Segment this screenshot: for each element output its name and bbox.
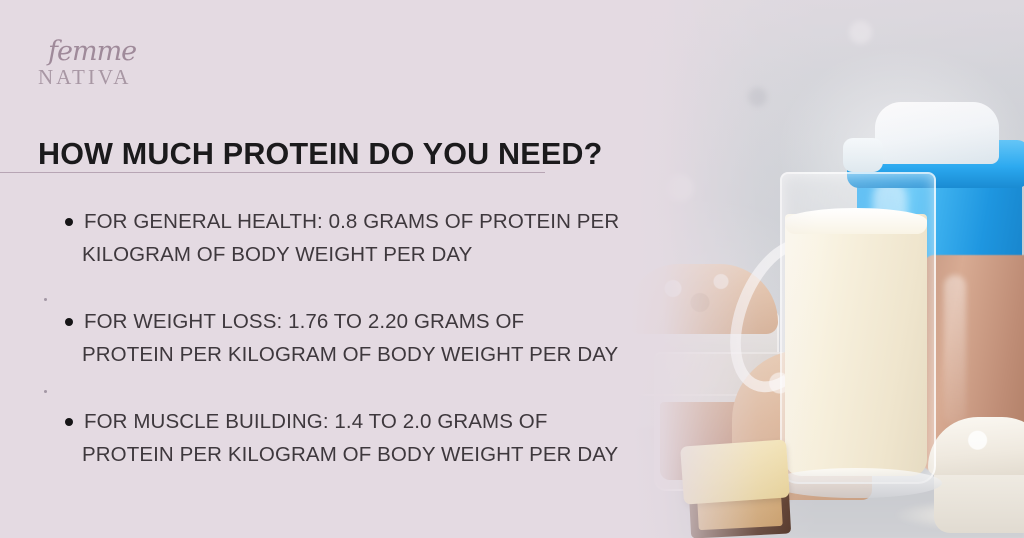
protein-recommendations-list: FOR GENERAL HEALTH: 0.8 GRAMS OF PROTEIN…: [44, 205, 704, 471]
list-item-line-2: PROTEIN PER KILOGRAM OF BODY WEIGHT PER …: [82, 438, 704, 471]
list-item: FOR MUSCLE BUILDING: 1.4 TO 2.0 GRAMS OF…: [44, 405, 704, 471]
brand-logo: femme NATIVA: [38, 38, 178, 88]
list-item: FOR WEIGHT LOSS: 1.76 TO 2.20 GRAMS OF P…: [44, 305, 704, 371]
white-scoop-powder: [928, 417, 1024, 475]
chocolate-shake-highlight: [944, 275, 966, 425]
shaker-white-cap: [875, 102, 999, 164]
bullet-icon: [65, 318, 73, 326]
list-item-line-2: PROTEIN PER KILOGRAM OF BODY WEIGHT PER …: [82, 338, 704, 371]
title-divider: [0, 172, 545, 173]
list-item: FOR GENERAL HEALTH: 0.8 GRAMS OF PROTEIN…: [44, 205, 704, 271]
list-item-line-1: FOR GENERAL HEALTH: 0.8 GRAMS OF PROTEIN…: [84, 210, 619, 233]
shake-liquid: [785, 214, 927, 476]
list-item-line-1: FOR WEIGHT LOSS: 1.76 TO 2.20 GRAMS OF: [84, 310, 524, 333]
spacer-dot-icon: [44, 390, 47, 393]
spacer-dot-icon: [44, 298, 47, 301]
bullet-icon: [65, 218, 73, 226]
bullet-icon: [65, 418, 73, 426]
page-title: HOW MUCH PROTEIN DO YOU NEED?: [38, 137, 602, 172]
brand-script-name: femme: [48, 38, 178, 65]
list-item-line-1: FOR MUSCLE BUILDING: 1.4 TO 2.0 GRAMS OF: [84, 410, 547, 433]
list-item-line-2: KILOGRAM OF BODY WEIGHT PER DAY: [82, 238, 704, 271]
protein-infographic: femme NATIVA HOW MUCH PROTEIN DO YOU NEE…: [0, 0, 1024, 538]
shaker-cap-tab: [843, 138, 883, 172]
glass-of-protein-shake: [772, 172, 940, 512]
brand-word-name: NATIVA: [38, 67, 178, 88]
glass-base: [770, 468, 942, 498]
white-protein-powder-scoop: [926, 415, 1024, 533]
shake-foam: [785, 208, 927, 234]
